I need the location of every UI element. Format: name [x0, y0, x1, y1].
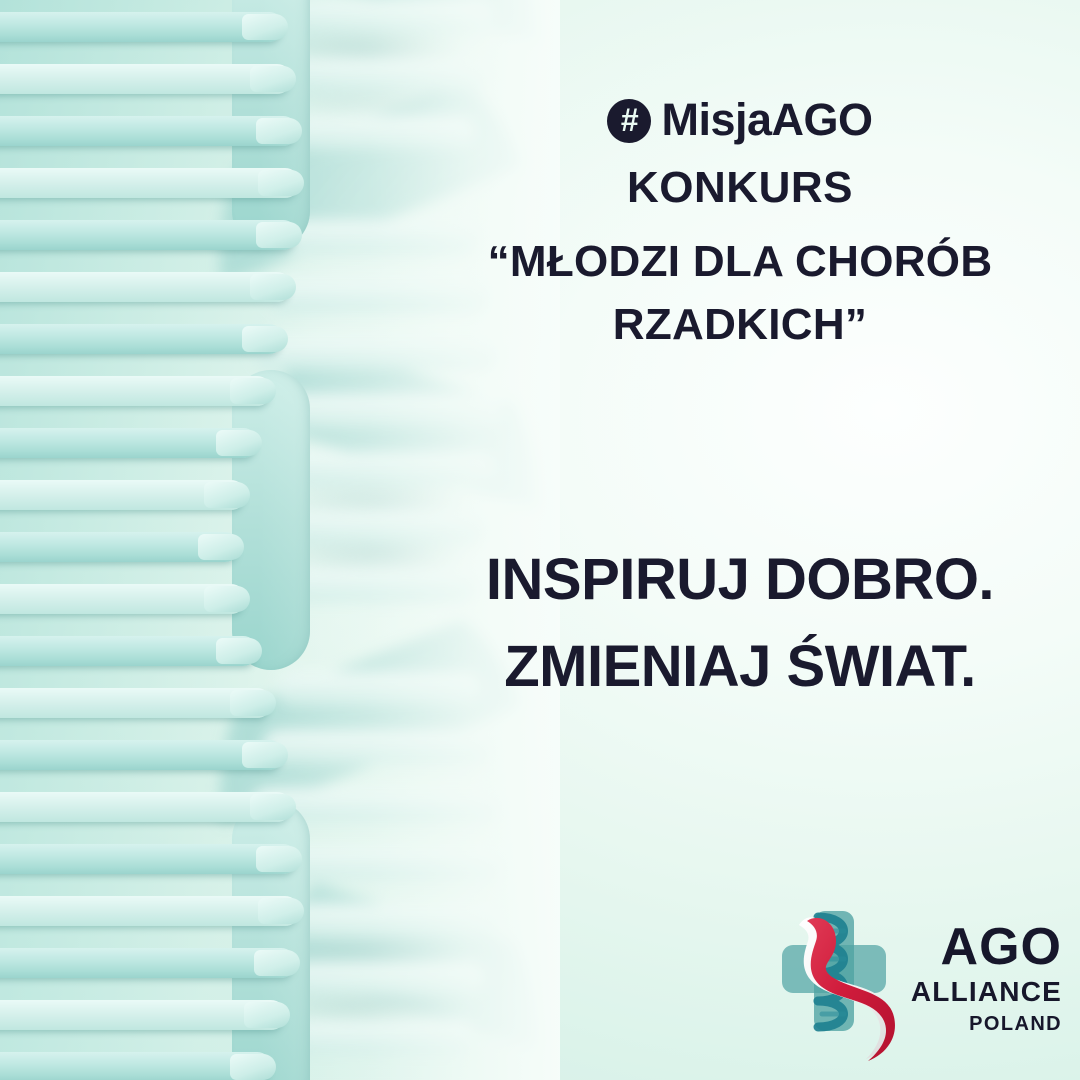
slogan-group: INSPIRUJ DOBRO. ZMIENIAJ ŚWIAT.	[420, 536, 1060, 710]
slogan-line-1: INSPIRUJ DOBRO.	[420, 536, 1060, 623]
poster-content: # MisjaAGO KONKURS “MŁODZI DLA CHORÓB RZ…	[0, 0, 1080, 1080]
contest-title: “MŁODZI DLA CHORÓB RZADKICH”	[430, 231, 1050, 356]
headline-group: # MisjaAGO KONKURS “MŁODZI DLA CHORÓB RZ…	[430, 96, 1050, 356]
hashtag-line: # MisjaAGO	[430, 96, 1050, 143]
contest-title-line-2: RZADKICH”	[430, 294, 1050, 356]
poster-canvas: # MisjaAGO KONKURS “MŁODZI DLA CHORÓB RZ…	[0, 0, 1080, 1080]
logo-country: POLAND	[900, 1012, 1062, 1036]
hashtag-icon: #	[607, 99, 651, 143]
logo-name: AGO	[900, 922, 1062, 973]
contest-title-line-1: “MŁODZI DLA CHORÓB	[430, 231, 1050, 293]
ago-alliance-logo: AGO ALLIANCE POLAND	[778, 898, 1068, 1064]
logo-subtitle: ALLIANCE	[900, 975, 1062, 1009]
contest-label: KONKURS	[430, 165, 1050, 211]
slogan-line-2: ZMIENIAJ ŚWIAT.	[420, 623, 1060, 710]
logo-wordmark: AGO ALLIANCE POLAND	[900, 922, 1068, 1040]
hashtag-label: MisjaAGO	[661, 96, 872, 143]
logo-mark-icon	[778, 901, 900, 1061]
